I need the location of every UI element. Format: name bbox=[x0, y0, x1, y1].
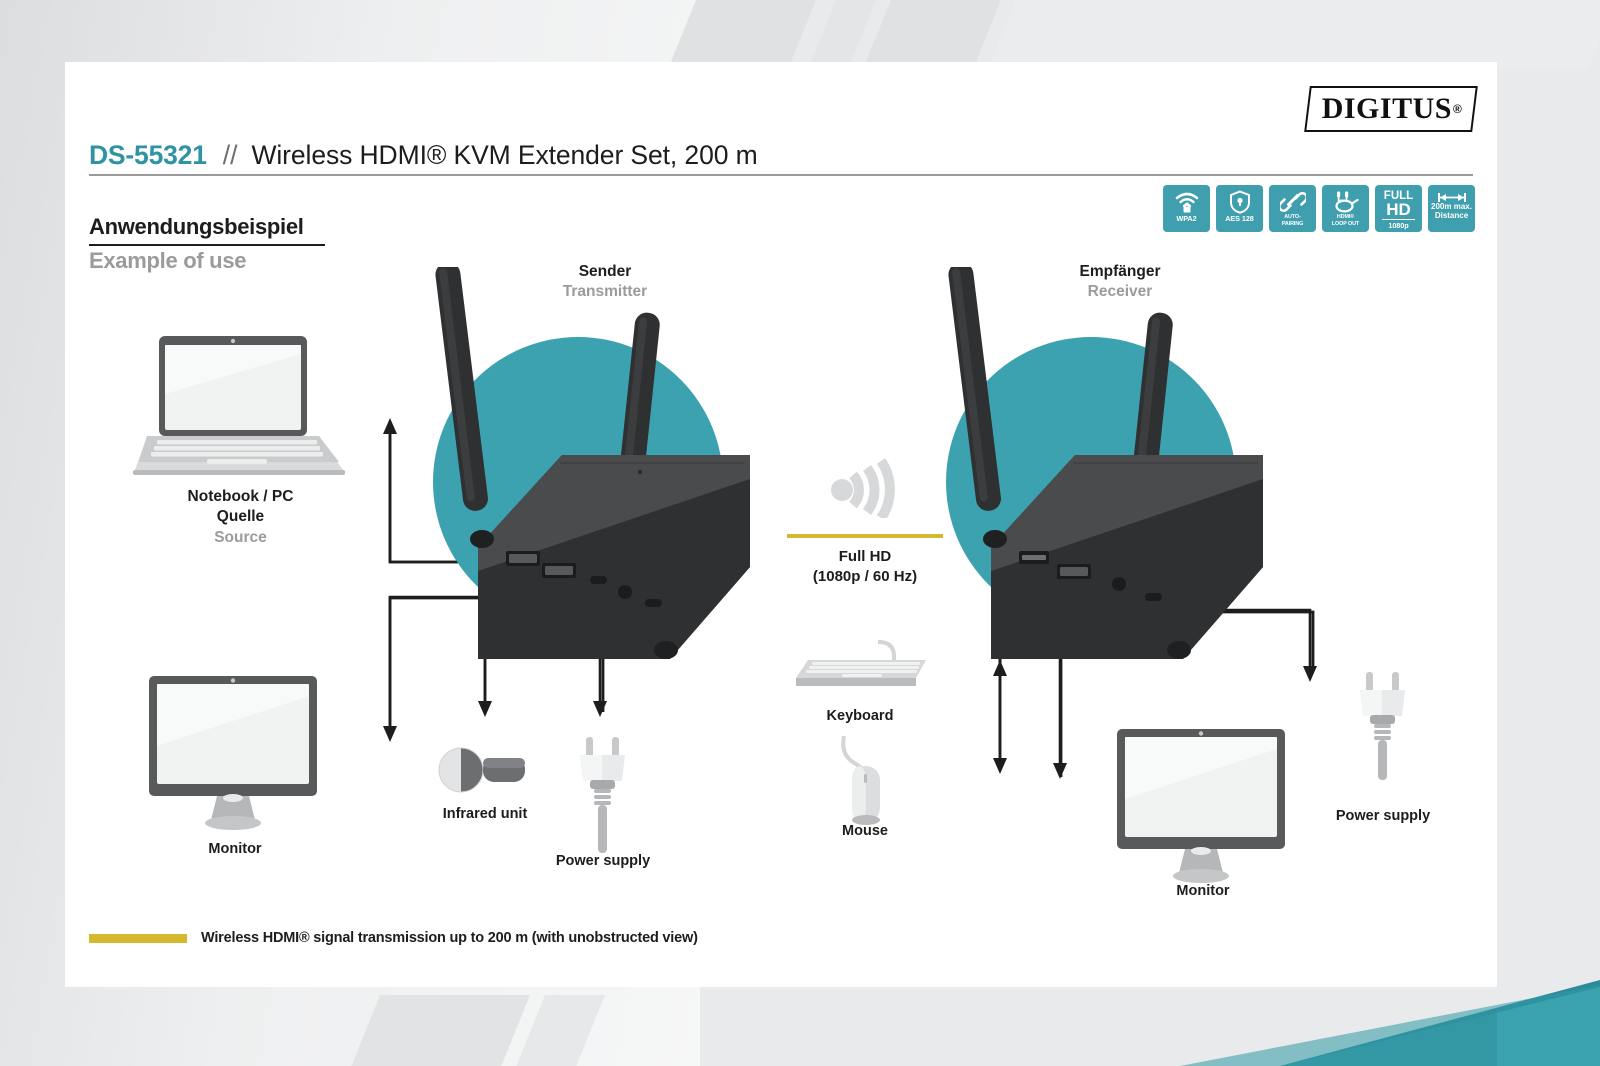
power-supply-left-label: Power supply bbox=[523, 852, 683, 871]
mouse-illustration bbox=[830, 734, 900, 834]
power-supply-right-caption: Power supply bbox=[1303, 807, 1463, 826]
transmitter-caption: Sender Transmitter bbox=[505, 262, 705, 303]
notebook-label-line3: Source bbox=[133, 528, 348, 548]
receiver-illustration bbox=[933, 267, 1263, 667]
receiver-group bbox=[933, 267, 1263, 667]
notebook-label-line2: Quelle bbox=[133, 507, 348, 527]
keyboard-caption: Keyboard bbox=[790, 707, 930, 726]
infrared-unit-illustration bbox=[437, 742, 533, 800]
keyboard-illustration bbox=[790, 640, 930, 702]
power-supply-left-illustration bbox=[570, 737, 636, 857]
transmitter-label-de: Sender bbox=[505, 262, 705, 282]
wifi-signal-icon bbox=[820, 442, 910, 518]
legend-color-swatch bbox=[89, 934, 187, 943]
content-card: DIGITUS® DS-55321 // Wireless HDMI® KVM … bbox=[65, 62, 1497, 987]
monitor-left-illustration bbox=[145, 674, 325, 834]
legend: Wireless HDMI® signal transmission up to… bbox=[89, 930, 698, 946]
notebook-illustration bbox=[133, 334, 348, 479]
infrared-unit-caption: Infrared unit bbox=[415, 805, 555, 824]
keyboard-label: Keyboard bbox=[790, 707, 930, 726]
infrared-unit-label: Infrared unit bbox=[415, 805, 555, 824]
mouse-caption: Mouse bbox=[815, 822, 915, 841]
application-diagram: Notebook / PC Quelle Source Monitor bbox=[65, 62, 1497, 987]
power-supply-right-illustration bbox=[1350, 672, 1416, 792]
receiver-caption: Empfänger Receiver bbox=[1020, 262, 1220, 303]
transmitter-group bbox=[420, 267, 750, 667]
power-supply-right-label: Power supply bbox=[1303, 807, 1463, 826]
receiver-label-en: Receiver bbox=[1020, 282, 1220, 302]
monitor-left-label: Monitor bbox=[145, 840, 325, 859]
notebook-caption: Notebook / PC Quelle Source bbox=[133, 487, 348, 548]
wireless-divider bbox=[787, 534, 943, 538]
mouse-label: Mouse bbox=[815, 822, 915, 841]
legend-text: Wireless HDMI® signal transmission up to… bbox=[201, 930, 698, 946]
monitor-right-illustration bbox=[1113, 727, 1293, 887]
monitor-right-caption: Monitor bbox=[1113, 882, 1293, 901]
monitor-left-caption: Monitor bbox=[145, 840, 325, 859]
receiver-label-de: Empfänger bbox=[1020, 262, 1220, 282]
transmitter-label-en: Transmitter bbox=[505, 282, 705, 302]
power-supply-left-caption: Power supply bbox=[523, 852, 683, 871]
monitor-right-label: Monitor bbox=[1113, 882, 1293, 901]
transmitter-illustration bbox=[420, 267, 750, 667]
slide-canvas: DIGITUS® DS-55321 // Wireless HDMI® KVM … bbox=[0, 0, 1600, 1066]
notebook-label-line1: Notebook / PC bbox=[133, 487, 348, 507]
